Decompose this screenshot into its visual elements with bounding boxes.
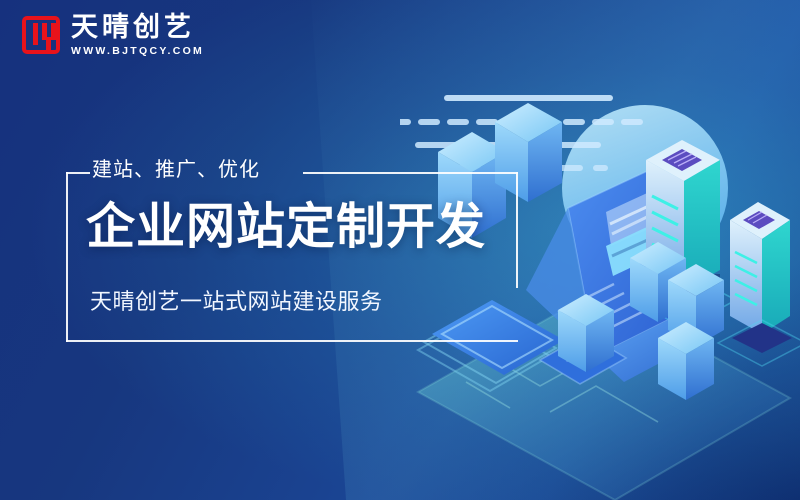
frame-top-stub-rule [66,172,90,174]
logo-company-name: 天晴创艺 [71,14,204,42]
server-rack-small [718,202,800,366]
logo-website-url: WWW.BJTQCY.COM [71,45,204,57]
hero-title: 企业网站定制开发 [86,202,516,254]
logo-text-group: 天晴创艺 WWW.BJTQCY.COM [71,14,204,57]
site-logo[interactable]: 天晴创艺 WWW.BJTQCY.COM [22,14,204,57]
frame-right-rule [516,172,518,288]
headline-frame [66,172,518,342]
hero-subtitle: 天晴创艺一站式网站建设服务 [90,291,490,313]
hero-eyebrow: 建站、推广、优化 [92,160,332,180]
banner-canvas: 天晴创艺 WWW.BJTQCY.COM 建站、推广、优化 企业网站定制开发 天晴… [0,0,800,500]
frame-top-long-rule [303,172,518,174]
frame-bottom-rule [66,340,518,342]
tqcy-monogram-icon [22,16,60,54]
frame-left-rule [66,172,68,342]
